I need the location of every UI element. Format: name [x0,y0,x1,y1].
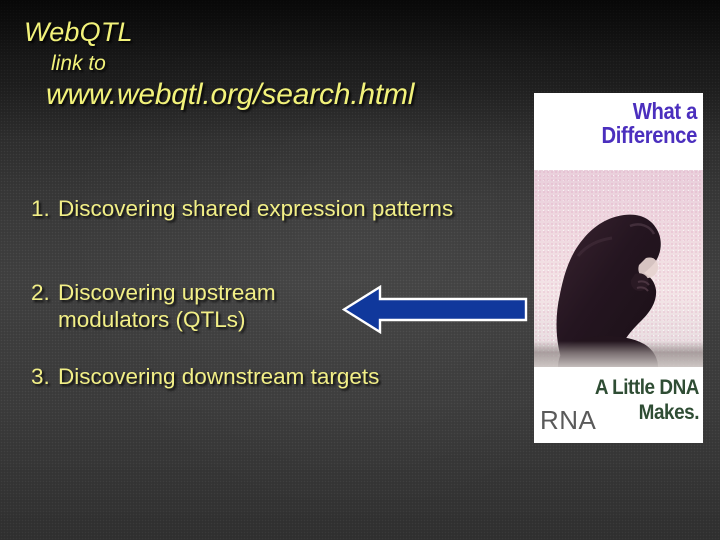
slide-canvas: WebQTL link to www.webqtl.org/search.htm… [0,0,720,540]
list-item-number: 1. [22,196,58,223]
photo-ground-shadow [534,341,703,367]
poster-rna-label: RNA [540,405,596,436]
list-item: 2. Discovering upstream modulators (QTLs… [22,280,358,333]
list-item-label: Discovering upstream modulators (QTLs) [58,280,358,333]
poster-image: What a Difference [534,93,703,443]
title-line-link-to: link to [51,53,106,74]
list-item: 1. Discovering shared expression pattern… [22,196,453,223]
list-item-number: 2. [22,280,58,307]
title-line-url[interactable]: www.webqtl.org/search.html [46,80,414,110]
chimpanzee-photo [534,170,703,367]
list-item-number: 3. [22,364,58,391]
list-item: 3. Discovering downstream targets [22,364,379,391]
left-arrow-icon [342,285,528,334]
list-item-label: Discovering shared expression patterns [58,196,453,223]
list-item-label: Discovering downstream targets [58,364,379,391]
poster-headline: What a Difference [558,99,697,147]
title-line-webqtl: WebQTL [24,19,133,46]
